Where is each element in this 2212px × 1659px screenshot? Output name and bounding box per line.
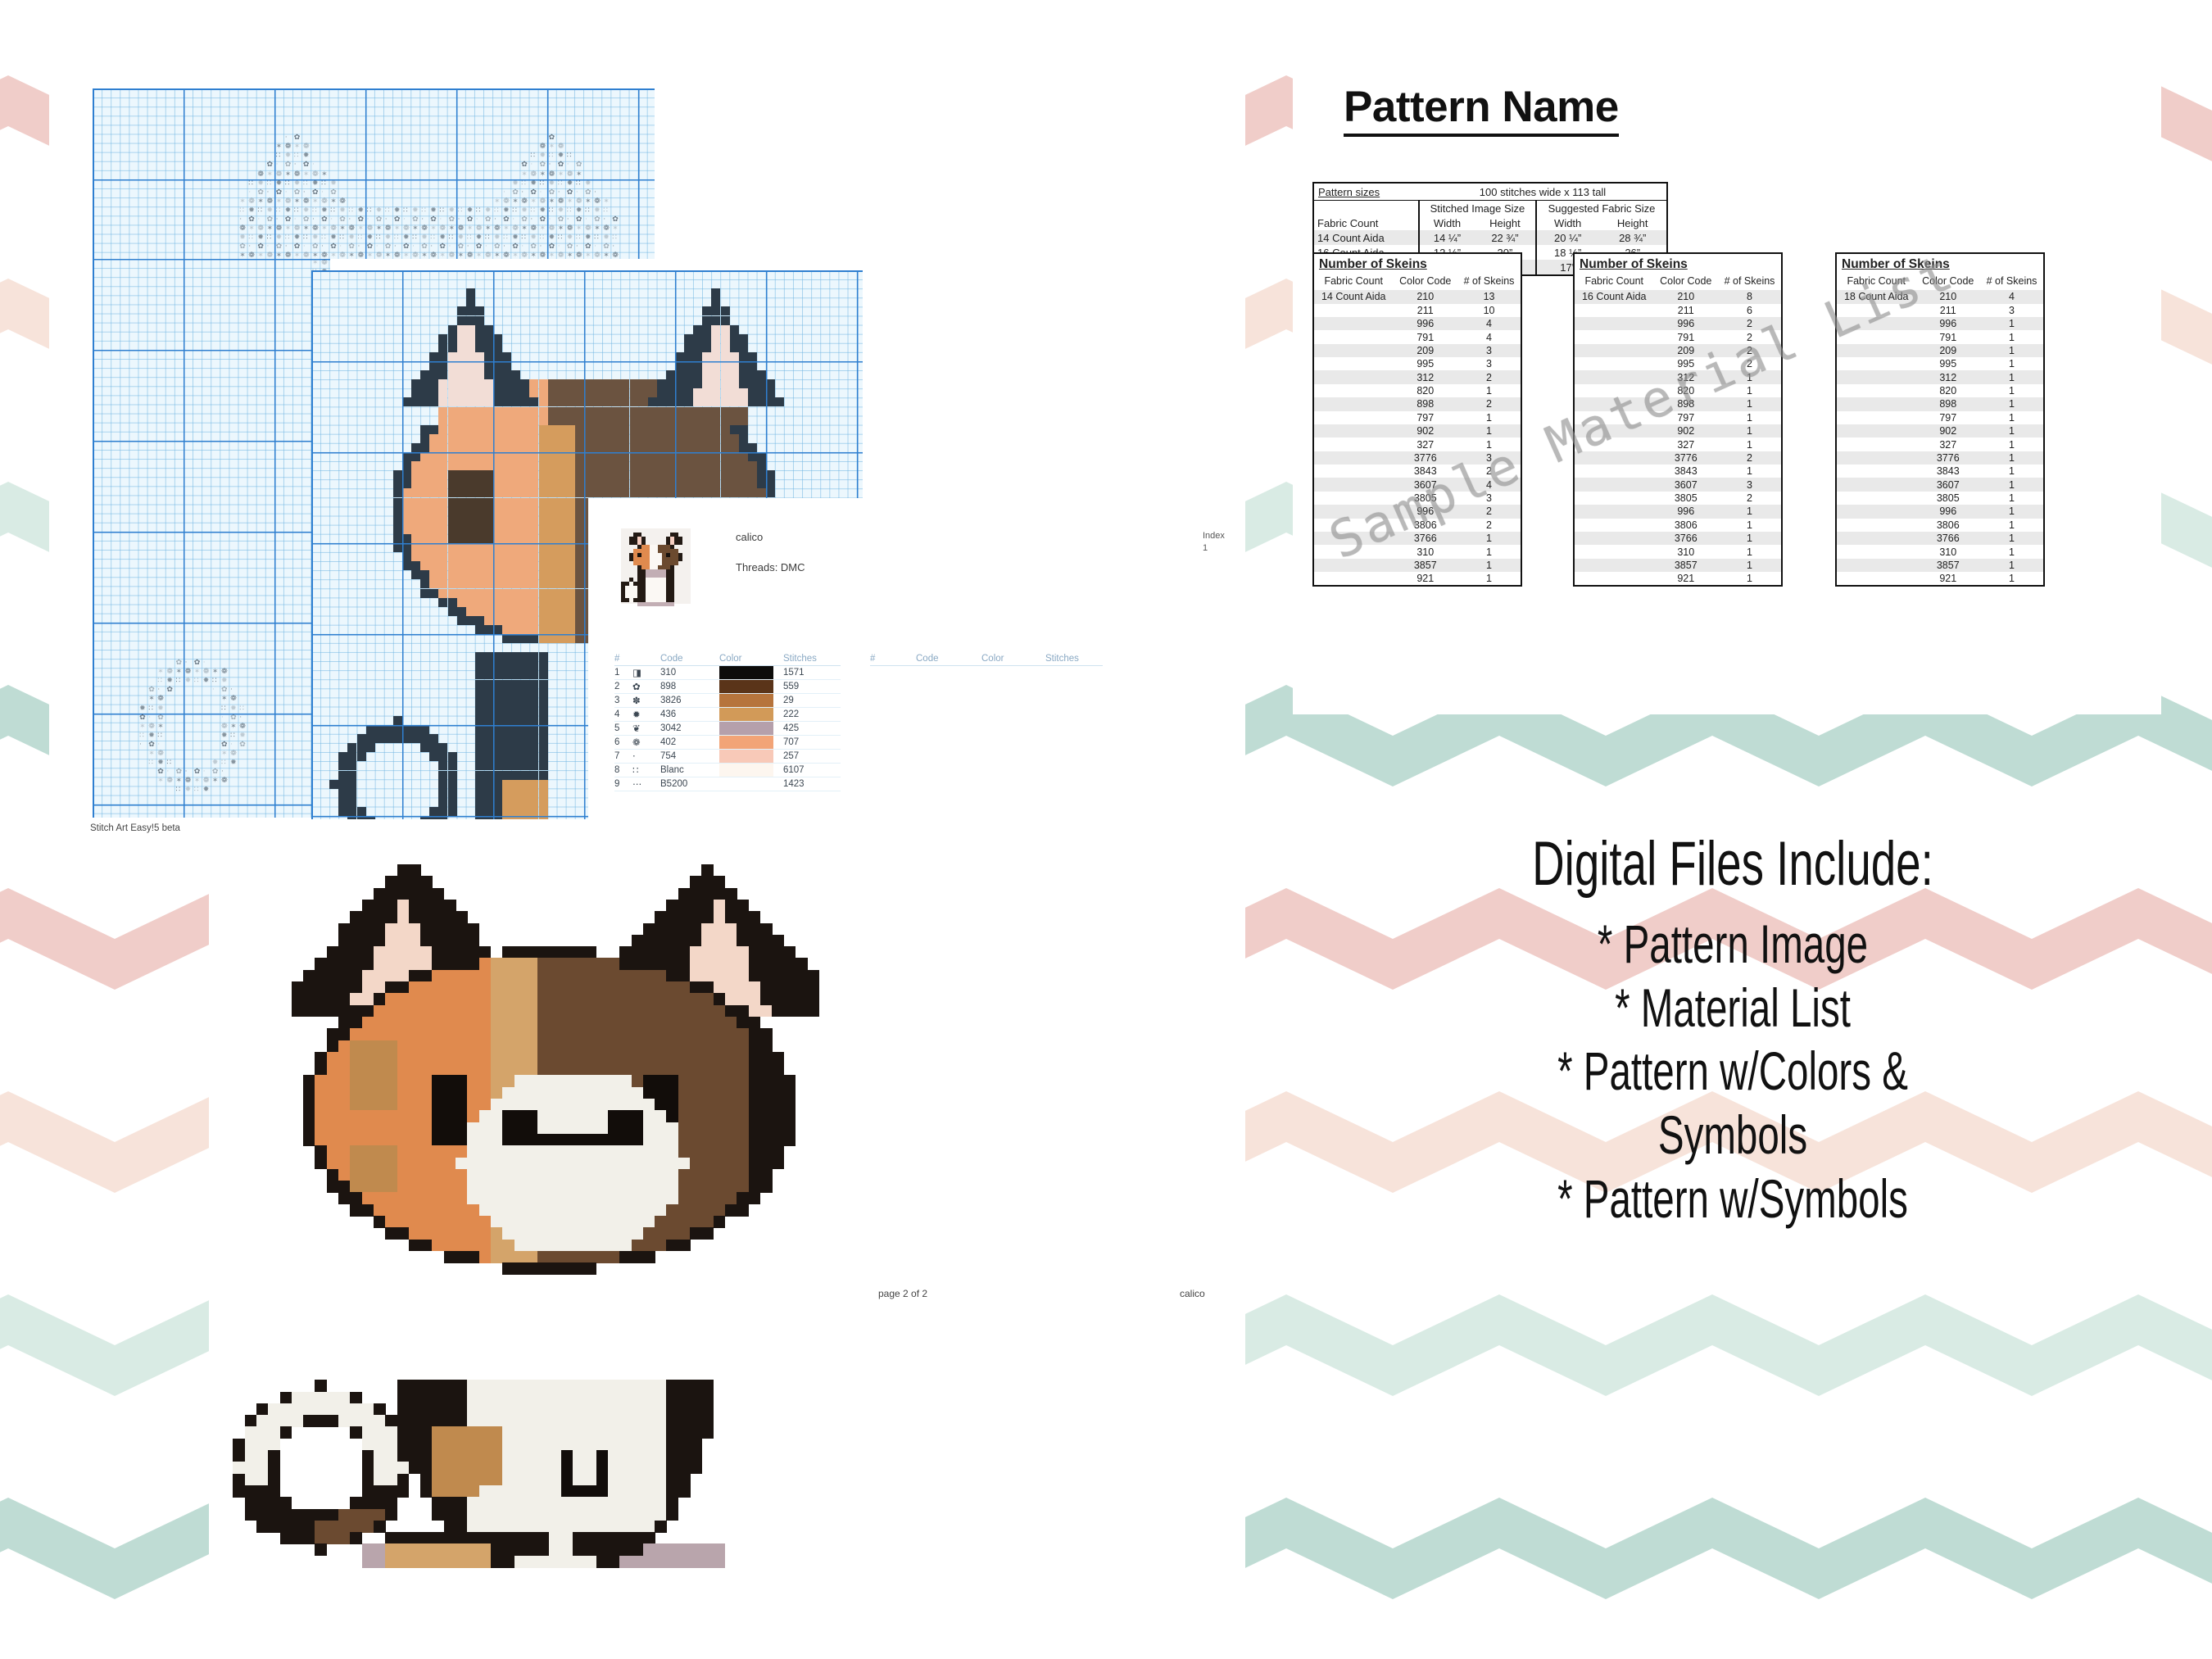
skeins-color-code: 902 [1653, 424, 1718, 437]
group-header-stitched-size: Stitched Image Size [1419, 201, 1536, 216]
skeins-fabric-count [1575, 505, 1653, 518]
skeins-number: 1 [1980, 424, 2043, 437]
skeins-row: 38053 [1314, 492, 1521, 505]
skeins-row: 9961 [1837, 317, 2043, 330]
skeins-color-code: 898 [1915, 397, 1980, 410]
skeins-color-code: 210 [1915, 290, 1980, 303]
skeins-fabric-count [1837, 357, 1915, 370]
legend-row-code: 3042 [660, 722, 719, 736]
legend-row-stitches: 29 [783, 694, 841, 708]
skeins-color-code: 820 [1915, 384, 1980, 397]
skeins-row: 36074 [1314, 478, 1521, 491]
skeins-color-code: 3766 [1915, 532, 1980, 545]
legend-row-color-swatch [719, 708, 783, 722]
skeins-number: 4 [1457, 330, 1521, 343]
skeins-color-code: 3843 [1653, 465, 1718, 478]
skeins-fabric-count [1314, 424, 1393, 437]
legend-row-code: 898 [660, 680, 719, 694]
skeins-col-fabric: Fabric Count [1837, 274, 1915, 290]
skeins-fabric-count [1837, 411, 1915, 424]
skeins-number: 1 [1980, 532, 2043, 545]
skeins-fabric-count [1314, 505, 1393, 518]
skeins-row: 8981 [1837, 397, 2043, 410]
skeins-row: 8201 [1314, 384, 1521, 397]
legend2-col-stitches: Stitches [1045, 654, 1103, 666]
pattern-sizes-row: 14 Count Aida14 ¼”22 ¾”20 ¼”28 ¾” [1314, 230, 1666, 245]
legend-row-symbol-icon: ◨ [632, 666, 660, 680]
legend2-col-color: Color [981, 654, 1045, 666]
skeins-number: 13 [1457, 290, 1521, 303]
legend-row-number: 4 [614, 708, 632, 722]
legend-row-code: 402 [660, 736, 719, 750]
skeins-row: 3101 [1575, 545, 1781, 558]
skeins-fabric-count [1575, 370, 1653, 383]
legend-row-color-swatch [719, 722, 783, 736]
promo-line: * Pattern w/Colors & [1405, 1040, 2060, 1104]
skeins-fabric-count [1837, 559, 1915, 572]
legend-row-stitches: 1571 [783, 666, 841, 680]
legend-row-code: Blanc [660, 764, 719, 777]
skeins-row: 38571 [1575, 559, 1781, 572]
skeins-fabric-count [1314, 451, 1393, 465]
skeins-fabric-count [1837, 545, 1915, 558]
skeins-number: 1 [1980, 572, 2043, 585]
skeins-number: 1 [1457, 545, 1521, 558]
skeins-fabric-count [1575, 532, 1653, 545]
skeins-fabric-count [1314, 478, 1393, 491]
skeins-color-code: 3806 [1653, 519, 1718, 532]
legend-row-color-swatch [719, 694, 783, 708]
skeins-number: 1 [1457, 532, 1521, 545]
legend-row-number: 6 [614, 736, 632, 750]
skeins-number: 1 [1718, 437, 1781, 451]
skeins-number: 3 [1980, 304, 2043, 317]
skeins-color-code: 3776 [1393, 451, 1457, 465]
skeins-row: 38571 [1314, 559, 1521, 572]
legend2-col-symbol [888, 654, 916, 666]
skeins-number: 1 [1980, 357, 2043, 370]
legend-row-symbol-icon: ✹ [632, 708, 660, 722]
skeins-fabric-count [1314, 304, 1393, 317]
legend-row: 1◨3101571 [614, 666, 841, 680]
skeins-color-code: 995 [1915, 357, 1980, 370]
skeins-color-code: 3857 [1653, 559, 1718, 572]
skeins-fabric-count [1837, 370, 1915, 383]
legend-row-code: 3826 [660, 694, 719, 708]
legend-row-symbol-icon: ❦ [632, 722, 660, 736]
skeins-row: 9952 [1575, 357, 1781, 370]
skeins-number: 2 [1718, 317, 1781, 330]
skeins-fabric-count [1575, 384, 1653, 397]
skeins-row: 3121 [1575, 370, 1781, 383]
skeins-row: 3122 [1314, 370, 1521, 383]
skeins-color-code: 820 [1393, 384, 1457, 397]
legend-row-stitches: 425 [783, 722, 841, 736]
skeins-table-18: Number of SkeinsFabric CountColor Code# … [1835, 252, 2045, 587]
skeins-color-code: 797 [1915, 411, 1980, 424]
skeins-color-code: 3607 [1653, 478, 1718, 491]
footer-page-number: page 2 of 2 [878, 1288, 927, 1299]
skeins-color-code: 791 [1915, 330, 1980, 343]
legend-row-color-swatch [719, 777, 783, 791]
skeins-fabric-count [1837, 437, 1915, 451]
skeins-fabric-count [1314, 492, 1393, 505]
skeins-row: 7914 [1314, 330, 1521, 343]
skeins-color-code: 921 [1653, 572, 1718, 585]
skeins-color-code: 898 [1653, 397, 1718, 410]
footer-design-name: calico [1180, 1288, 1205, 1299]
skeins-number: 1 [1718, 384, 1781, 397]
skeins-number: 3 [1457, 492, 1521, 505]
skeins-color-code: 3843 [1393, 465, 1457, 478]
size-stitched-width: 14 ¼” [1419, 230, 1475, 245]
skeins-color-code: 995 [1653, 357, 1718, 370]
skeins-fabric-count [1314, 559, 1393, 572]
index-label: Index [1203, 531, 1225, 541]
legend-row-symbol-icon: ⋯ [632, 777, 660, 791]
skeins-fabric-count [1314, 437, 1393, 451]
pattern-sizes-heading: Pattern sizes [1314, 184, 1419, 201]
design-thumbnail [621, 528, 691, 604]
skeins-number: 1 [1718, 465, 1781, 478]
promo-line: * Pattern Image [1405, 913, 2060, 977]
symbol-chart-grid-left-column: ✶❁∷✹·✿❁✶✹∷✿·✶❁∷✹·✿❁✶✹∷✿·✶❁∷✹·✿❁✶✹∷✿·✶❁∷✹… [93, 259, 330, 818]
skeins-number: 1 [1718, 411, 1781, 424]
skeins-number: 1 [1457, 424, 1521, 437]
group-header-fabric-size: Suggested Fabric Size [1536, 201, 1666, 216]
skeins-fabric-count [1575, 330, 1653, 343]
symbol-chart-grid: ·✿✿✶❁✶❁❁✶❁∷✹∷✹∷✹∷✹∷✿·✿·✿·✿·✿·✿·✿❁✶❁✶❁✶❁✶… [93, 88, 655, 259]
skeins-row: 21110 [1314, 304, 1521, 317]
skeins-fabric-count [1575, 424, 1653, 437]
skeins-header-row: Fabric CountColor Code# of Skeins [1575, 274, 1781, 290]
legend-row-symbol-icon: ❁ [632, 736, 660, 750]
skeins-row: 7971 [1837, 411, 2043, 424]
skeins-color-code: 797 [1393, 411, 1457, 424]
skeins-row: 9211 [1575, 572, 1781, 585]
skeins-row: 3121 [1837, 370, 2043, 383]
skeins-number: 1 [1980, 478, 2043, 491]
legend-row-color-swatch [719, 680, 783, 694]
skeins-fabric-count [1837, 505, 1915, 518]
skeins-number: 2 [1718, 330, 1781, 343]
calico-cat-preview [221, 864, 877, 1569]
skeins-row: 16 Count Aida2108 [1575, 290, 1781, 303]
skeins-number: 1 [1980, 492, 2043, 505]
skeins-row: 3271 [1575, 437, 1781, 451]
legend-row: 3✽382629 [614, 694, 841, 708]
skeins-heading: Number of Skeins [1314, 254, 1521, 274]
legend-row-color-swatch [719, 764, 783, 777]
skeins-fabric-count [1575, 357, 1653, 370]
legend-row-number: 8 [614, 764, 632, 777]
size-stitched-height: 22 ¾” [1475, 230, 1536, 245]
skeins-number: 1 [1980, 437, 2043, 451]
skeins-row: 38431 [1575, 465, 1781, 478]
skeins-number: 1 [1457, 559, 1521, 572]
skeins-fabric-count [1837, 451, 1915, 465]
skeins-number: 1 [1980, 505, 2043, 518]
skeins-fabric-count [1314, 397, 1393, 410]
skeins-fabric-count [1837, 424, 1915, 437]
skeins-row: 38432 [1314, 465, 1521, 478]
skeins-row: 38061 [1575, 519, 1781, 532]
legend-row-code: 436 [660, 708, 719, 722]
skeins-fabric-count [1314, 357, 1393, 370]
skeins-color-code: 327 [1393, 437, 1457, 451]
skeins-row: 9021 [1314, 424, 1521, 437]
skeins-row: 38061 [1837, 519, 2043, 532]
skeins-row: 37761 [1837, 451, 2043, 465]
skeins-number: 2 [1457, 370, 1521, 383]
skeins-row: 38571 [1837, 559, 2043, 572]
skeins-col-code: Color Code [1653, 274, 1718, 290]
legend-col-color: Color [719, 654, 783, 666]
skeins-row: 7912 [1575, 330, 1781, 343]
skeins-row: 3101 [1314, 545, 1521, 558]
skeins-fabric-count [1314, 519, 1393, 532]
skeins-color-code: 995 [1393, 357, 1457, 370]
legend-row: 4✹436222 [614, 708, 841, 722]
skeins-col-count: # of Skeins [1980, 274, 2043, 290]
skeins-fabric-count [1837, 532, 1915, 545]
skeins-number: 4 [1457, 317, 1521, 330]
skeins-row: 9961 [1837, 505, 2043, 518]
skeins-number: 2 [1457, 465, 1521, 478]
skeins-fabric-count [1837, 330, 1915, 343]
skeins-row: 9964 [1314, 317, 1521, 330]
skeins-fabric-count [1837, 397, 1915, 410]
skeins-number: 1 [1980, 465, 2043, 478]
skeins-color-code: 310 [1915, 545, 1980, 558]
skeins-fabric-count [1314, 370, 1393, 383]
skeins-color-code: 211 [1915, 304, 1980, 317]
legend-row: 2✿898559 [614, 680, 841, 694]
skeins-row: 38051 [1837, 492, 2043, 505]
skeins-number: 1 [1980, 411, 2043, 424]
skeins-color-code: 921 [1393, 572, 1457, 585]
skeins-number: 1 [1980, 384, 2043, 397]
skeins-col-count: # of Skeins [1457, 274, 1521, 290]
skeins-row: 2093 [1314, 344, 1521, 357]
skeins-number: 2 [1457, 519, 1521, 532]
skeins-row: 38052 [1575, 492, 1781, 505]
skeins-row: 3101 [1837, 545, 2043, 558]
skeins-color-code: 3857 [1393, 559, 1457, 572]
skeins-color-code: 3805 [1393, 492, 1457, 505]
skeins-color-code: 3776 [1915, 451, 1980, 465]
skeins-color-code: 312 [1393, 370, 1457, 383]
skeins-fabric-count [1575, 492, 1653, 505]
skeins-color-code: 327 [1653, 437, 1718, 451]
skeins-fabric-count [1575, 344, 1653, 357]
legend-row-stitches: 1423 [783, 777, 841, 791]
legend-row: 5❦3042425 [614, 722, 841, 736]
skeins-color-code: 3805 [1915, 492, 1980, 505]
skeins-row: 9962 [1314, 505, 1521, 518]
skeins-color-code: 996 [1653, 505, 1718, 518]
skeins-fabric-count [1575, 317, 1653, 330]
promo-heading: Digital Files Include: [1405, 827, 2060, 901]
legend-row-number: 9 [614, 777, 632, 791]
skeins-color-code: 996 [1393, 505, 1457, 518]
skeins-number: 10 [1457, 304, 1521, 317]
skeins-number: 3 [1718, 478, 1781, 491]
legend-col-num: # [614, 654, 632, 666]
skeins-number: 1 [1980, 370, 2043, 383]
skeins-heading: Number of Skeins [1575, 254, 1781, 274]
col-fabric-count: Fabric Count [1314, 215, 1419, 230]
skeins-row: 38062 [1314, 519, 1521, 532]
skeins-header-row: Fabric CountColor Code# of Skeins [1314, 274, 1521, 290]
skeins-fabric-count [1575, 545, 1653, 558]
skeins-col-fabric: Fabric Count [1314, 274, 1393, 290]
skeins-number: 2 [1718, 357, 1781, 370]
legend-row-number: 1 [614, 666, 632, 680]
skeins-color-code: 797 [1653, 411, 1718, 424]
skeins-col-code: Color Code [1393, 274, 1457, 290]
skeins-row: 38431 [1837, 465, 2043, 478]
skeins-color-code: 902 [1393, 424, 1457, 437]
skeins-number: 3 [1457, 344, 1521, 357]
skeins-fabric-count [1837, 317, 1915, 330]
skeins-color-code: 211 [1393, 304, 1457, 317]
skeins-color-code: 312 [1653, 370, 1718, 383]
col-fabric-height: Height [1598, 215, 1666, 230]
legend-row: 8∷Blanc6107 [614, 764, 841, 777]
promo-line: Symbols [1405, 1104, 2060, 1167]
skeins-col-count: # of Skeins [1718, 274, 1781, 290]
skeins-fabric-count [1314, 330, 1393, 343]
skeins-row: 8982 [1314, 397, 1521, 410]
skeins-fabric-count: 16 Count Aida [1575, 290, 1653, 303]
skeins-number: 1 [1457, 411, 1521, 424]
skeins-row: 8201 [1837, 384, 2043, 397]
skeins-color-code: 3843 [1915, 465, 1980, 478]
skeins-row: 9951 [1837, 357, 2043, 370]
skeins-number: 1 [1457, 384, 1521, 397]
skeins-number: 1 [1980, 317, 2043, 330]
skeins-color-code: 3766 [1393, 532, 1457, 545]
legend-row: 6❁402707 [614, 736, 841, 750]
col-stitched-width: Width [1419, 215, 1475, 230]
skeins-fabric-count [1837, 465, 1915, 478]
color-legend-table-empty: # Code Color Stitches [870, 654, 1116, 666]
skeins-fabric-count [1575, 437, 1653, 451]
skeins-number: 1 [1980, 545, 2043, 558]
skeins-fabric-count [1575, 559, 1653, 572]
skeins-heading: Number of Skeins [1837, 254, 2043, 274]
skeins-number: 1 [1718, 505, 1781, 518]
color-legend-table: # Code Color Stitches 1◨31015712✿8985593… [614, 654, 860, 791]
skeins-fabric-count [1575, 572, 1653, 585]
skeins-row: 9021 [1837, 424, 2043, 437]
skeins-number: 1 [1457, 437, 1521, 451]
skeins-number: 1 [1718, 519, 1781, 532]
skeins-row: 2113 [1837, 304, 2043, 317]
skeins-fabric-count: 18 Count Aida [1837, 290, 1915, 303]
skeins-number: 1 [1718, 572, 1781, 585]
skeins-fabric-count [1575, 451, 1653, 465]
skeins-row: 37762 [1575, 451, 1781, 465]
skeins-fabric-count [1314, 384, 1393, 397]
skeins-fabric-count [1575, 519, 1653, 532]
legend-row-stitches: 6107 [783, 764, 841, 777]
skeins-number: 1 [1980, 559, 2043, 572]
skeins-number: 1 [1980, 330, 2043, 343]
skeins-number: 1 [1718, 370, 1781, 383]
skeins-number: 2 [1457, 505, 1521, 518]
skeins-number: 6 [1718, 304, 1781, 317]
skeins-header-row: Fabric CountColor Code# of Skeins [1837, 274, 2043, 290]
page-title: Pattern Name [1344, 82, 1619, 137]
skeins-color-code: 3805 [1653, 492, 1718, 505]
skeins-table-14: Number of SkeinsFabric CountColor Code# … [1312, 252, 1522, 587]
legend-row: 9⋯B52001423 [614, 777, 841, 791]
design-name-label: calico [736, 531, 763, 543]
skeins-row: 9962 [1575, 317, 1781, 330]
legend-col-code: Code [660, 654, 719, 666]
skeins-color-code: 921 [1915, 572, 1980, 585]
skeins-fabric-count [1837, 304, 1915, 317]
legend2-col-code: Code [916, 654, 981, 666]
skeins-color-code: 210 [1393, 290, 1457, 303]
skeins-number: 3 [1457, 451, 1521, 465]
skeins-color-code: 3806 [1393, 519, 1457, 532]
skeins-color-code: 3857 [1915, 559, 1980, 572]
legend-row-code: 310 [660, 666, 719, 680]
legend-col-stitches: Stitches [783, 654, 841, 666]
size-fabric-count: 14 Count Aida [1314, 230, 1419, 245]
index-value: 1 [1203, 543, 1208, 553]
skeins-number: 2 [1718, 344, 1781, 357]
skeins-row: 9211 [1837, 572, 2043, 585]
skeins-row: 37661 [1837, 532, 2043, 545]
size-fabric-width: 20 ¼” [1536, 230, 1599, 245]
skeins-color-code: 210 [1653, 290, 1718, 303]
skeins-fabric-count [1314, 344, 1393, 357]
legend-row-number: 3 [614, 694, 632, 708]
software-credit: Stitch Art Easy!5 beta [90, 823, 180, 833]
skeins-number: 1 [1457, 572, 1521, 585]
skeins-row: 36071 [1837, 478, 2043, 491]
skeins-color-code: 898 [1393, 397, 1457, 410]
skeins-row: 7911 [1837, 330, 2043, 343]
skeins-number: 1 [1980, 344, 2043, 357]
skeins-col-code: Color Code [1915, 274, 1980, 290]
skeins-row: 8981 [1575, 397, 1781, 410]
skeins-row: 9021 [1575, 424, 1781, 437]
promo-line: * Material List [1405, 977, 2060, 1040]
legend-row-code: 754 [660, 750, 719, 764]
skeins-number: 2 [1718, 492, 1781, 505]
skeins-fabric-count [1575, 411, 1653, 424]
skeins-number: 1 [1718, 545, 1781, 558]
skeins-number: 2 [1718, 451, 1781, 465]
legend-row-symbol-icon: · [632, 750, 660, 764]
skeins-color-code: 310 [1653, 545, 1718, 558]
skeins-number: 3 [1457, 357, 1521, 370]
legend-row: 7·754257 [614, 750, 841, 764]
skeins-number: 1 [1980, 397, 2043, 410]
skeins-number: 1 [1718, 424, 1781, 437]
skeins-row: 9961 [1575, 505, 1781, 518]
legend-col-symbol [632, 654, 660, 666]
skeins-row: 2092 [1575, 344, 1781, 357]
skeins-number: 1 [1718, 397, 1781, 410]
skeins-row: 14 Count Aida21013 [1314, 290, 1521, 303]
skeins-number: 8 [1718, 290, 1781, 303]
